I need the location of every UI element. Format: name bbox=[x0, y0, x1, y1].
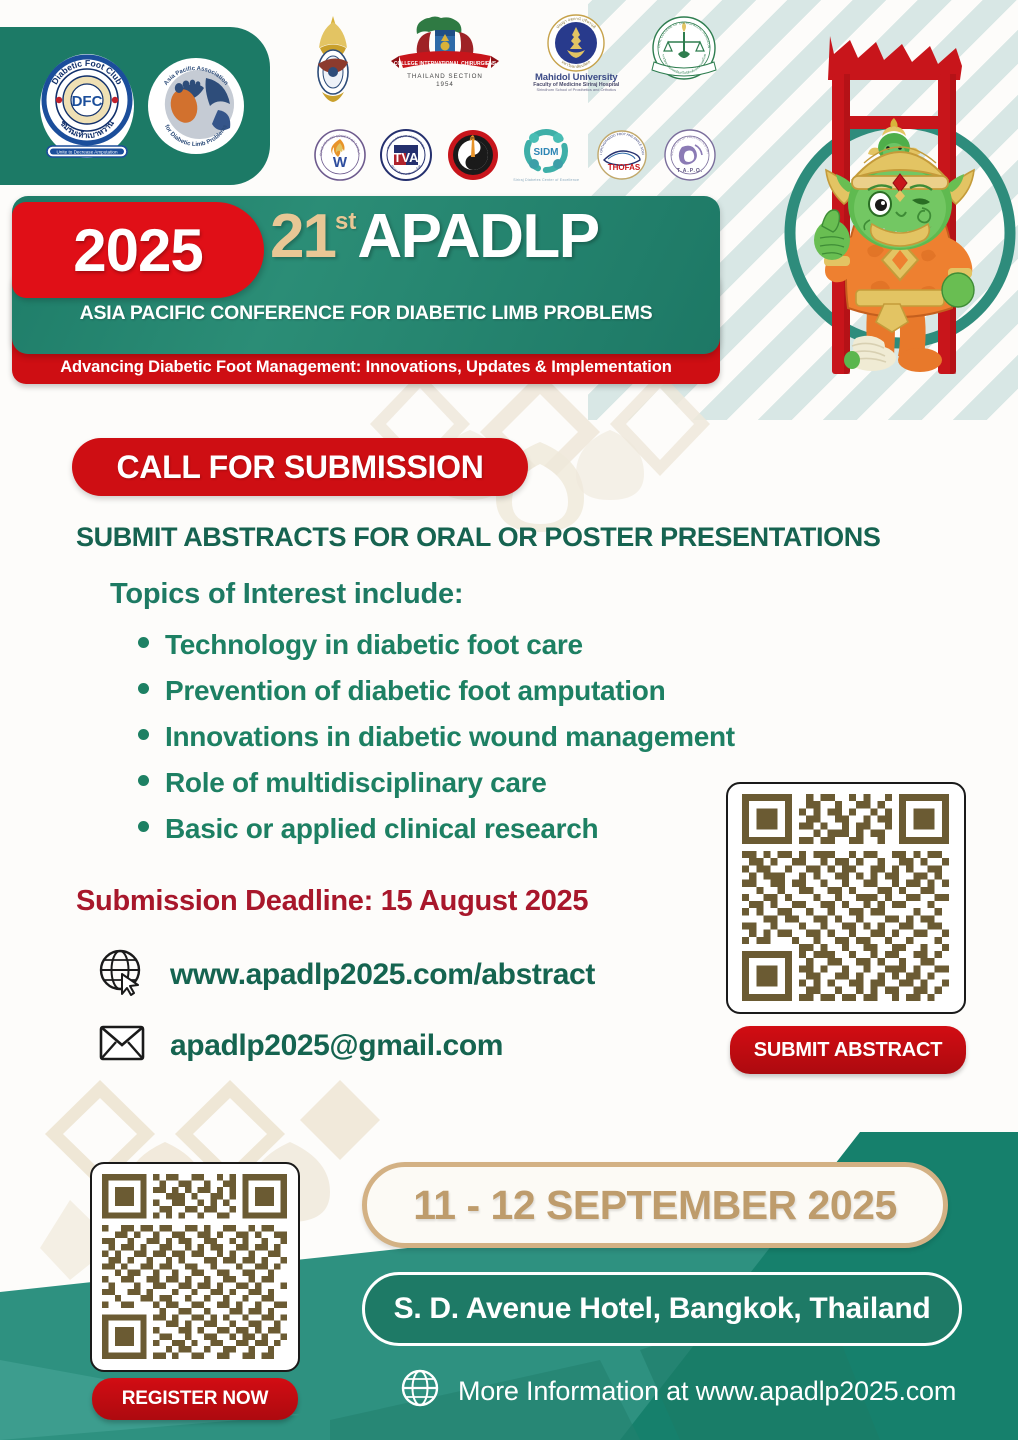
register-now-label: REGISTER NOW bbox=[122, 1388, 268, 1410]
call-for-submission-label: CALL FOR SUBMISSION bbox=[116, 449, 483, 486]
list-item: Basic or applied clinical research bbox=[138, 806, 735, 852]
partner-logos: COLLEGE INTERNATIONAL CHIRURGIENS THAILA… bbox=[310, 14, 720, 194]
topic-label: Technology in diabetic foot care bbox=[165, 622, 583, 668]
bullet-dot-icon bbox=[138, 637, 149, 648]
list-item: Innovations in diabetic wound management bbox=[138, 714, 735, 760]
bullet-dot-icon bbox=[138, 683, 149, 694]
footer-more-info[interactable]: More Information at www.apadlp2025.com bbox=[400, 1368, 956, 1415]
edition-suffix: st bbox=[335, 210, 356, 234]
topic-label: Role of multidisciplinary care bbox=[165, 760, 547, 806]
register-now-button[interactable]: REGISTER NOW bbox=[92, 1378, 298, 1420]
conference-subtitle: ASIA PACIFIC CONFERENCE FOR DIABETIC LIM… bbox=[12, 302, 720, 325]
svg-text:DFC: DFC bbox=[72, 93, 103, 110]
year-badge: 2025 bbox=[12, 202, 264, 298]
svg-text:TVA: TVA bbox=[394, 150, 420, 165]
topic-label: Prevention of diabetic foot amputation bbox=[165, 668, 665, 714]
topic-label: Basic or applied clinical research bbox=[165, 806, 598, 852]
organizer-logo-panel: DFC Diabetic Foot Club ชมรมเท้าเบาหวาน U… bbox=[0, 27, 270, 185]
svg-text:SIDM: SIDM bbox=[534, 147, 559, 158]
globe-icon bbox=[400, 1368, 440, 1415]
globe-cursor-icon bbox=[98, 948, 146, 1001]
event-venue: S. D. Avenue Hotel, Bangkok, Thailand bbox=[394, 1292, 931, 1326]
footer-text: More Information at www.apadlp2025.com bbox=[458, 1376, 956, 1407]
bullet-dot-icon bbox=[138, 729, 149, 740]
envelope-icon bbox=[98, 1022, 146, 1069]
logo-red-black-yinyang-seal: THAI TRADITIONAL MEDICINE bbox=[447, 129, 499, 181]
submit-abstracts-heading: SUBMIT ABSTRACTS FOR ORAL OR POSTER PRES… bbox=[76, 522, 880, 553]
topics-heading: Topics of Interest include: bbox=[110, 578, 463, 611]
submit-abstract-button[interactable]: SUBMIT ABSTRACT bbox=[730, 1026, 966, 1074]
svg-text:W: W bbox=[333, 154, 348, 171]
logo-medical-association-green-seal: ROYAL COLLEGE OF ORTHOPAEDIC SURGEONS รา… bbox=[648, 14, 720, 86]
event-dates-pill: 11 - 12 SEPTEMBER 2025 bbox=[362, 1162, 948, 1248]
mahidol-school: Sirindhorn School of Prosthetics and Ort… bbox=[533, 88, 619, 92]
svg-text:1954: 1954 bbox=[436, 81, 454, 88]
conference-title-banner: 2025 21 st APADLP ASIA PACIFIC CONFERENC… bbox=[12, 196, 720, 384]
logo-college-international-chirurgiens: COLLEGE INTERNATIONAL CHIRURGIENS THAILA… bbox=[385, 14, 505, 88]
event-venue-pill: S. D. Avenue Hotel, Bangkok, Thailand bbox=[362, 1272, 962, 1346]
svg-text:Unite to Decrease Amputation: Unite to Decrease Amputation bbox=[56, 150, 117, 155]
call-for-submission-badge: CALL FOR SUBMISSION bbox=[72, 438, 528, 496]
logo-thofas-seal: THOFAS THAI ORTHOPAEDIC FOOT AND ANKLE S… bbox=[594, 130, 650, 180]
logo-w-flame-seal: W WOUND HEALING SOCIETY OF THAILAND bbox=[314, 129, 366, 181]
conference-acronym: APADLP bbox=[357, 206, 598, 268]
list-item: Prevention of diabetic foot amputation bbox=[138, 668, 735, 714]
logo-tapo-seal: T.A.P.O. THAI ASSOCIATION OF PROSTHETICS… bbox=[664, 129, 716, 181]
register-qr-code[interactable] bbox=[90, 1162, 300, 1372]
event-dates: 11 - 12 SEPTEMBER 2025 bbox=[413, 1182, 897, 1229]
svg-text:COLLEGE INTERNATIONAL CHIRURGI: COLLEGE INTERNATIONAL CHIRURGIENS bbox=[393, 61, 496, 67]
website-row[interactable]: www.apadlp2025.com/abstract bbox=[98, 948, 595, 1001]
svg-text:THOFAS: THOFAS bbox=[607, 163, 640, 172]
list-item: Technology in diabetic foot care bbox=[138, 622, 735, 668]
conference-tagline: Advancing Diabetic Foot Management: Inno… bbox=[12, 354, 720, 380]
year-text: 2025 bbox=[73, 216, 202, 285]
submit-abstract-label: SUBMIT ABSTRACT bbox=[754, 1039, 942, 1062]
topic-label: Innovations in diabetic wound management bbox=[165, 714, 735, 760]
submission-deadline: Submission Deadline: 15 August 2025 bbox=[76, 885, 588, 918]
bullet-dot-icon bbox=[138, 775, 149, 786]
conference-poster: DFC Diabetic Foot Club ชมรมเท้าเบาหวาน U… bbox=[0, 0, 1018, 1440]
thai-yaksha-giant-swing-mascot bbox=[772, 8, 1012, 388]
submit-abstract-qr-code[interactable] bbox=[726, 782, 966, 1014]
edition-number: 21 bbox=[270, 206, 335, 268]
list-item: Role of multidisciplinary care bbox=[138, 760, 735, 806]
website-url[interactable]: www.apadlp2025.com/abstract bbox=[170, 958, 595, 992]
email-address[interactable]: apadlp2025@gmail.com bbox=[170, 1029, 503, 1063]
logo-sidm-seal: SIDM Siriraj Diabetes Center of Excellen… bbox=[513, 129, 579, 182]
logo-tva-seal: TVA THAI VASCULAR ASSOCIATION สมาคมศัลยแ… bbox=[380, 129, 432, 181]
topics-list: Technology in diabetic foot care Prevent… bbox=[138, 622, 735, 852]
bullet-dot-icon bbox=[138, 821, 149, 832]
svg-text:THAILAND SECTION: THAILAND SECTION bbox=[407, 73, 483, 80]
logo-royal-emblem-thailand bbox=[310, 14, 356, 110]
svg-text:T.A.P.O.: T.A.P.O. bbox=[677, 168, 703, 174]
logo-asia-pacific-association-diabetic-foot: Asia Pacific Association for Diabetic Li… bbox=[148, 58, 244, 154]
sidm-caption: Siriraj Diabetes Center of Excellence bbox=[513, 178, 579, 182]
logo-mahidol-university: ปญฺญา อตฺตานํ ปริหรนฺติ มหาวิทยาลัยมหิดล… bbox=[533, 14, 619, 93]
email-row[interactable]: apadlp2025@gmail.com bbox=[98, 1022, 503, 1069]
logo-diabetic-foot-club: DFC Diabetic Foot Club ชมรมเท้าเบาหวาน U… bbox=[40, 54, 134, 158]
